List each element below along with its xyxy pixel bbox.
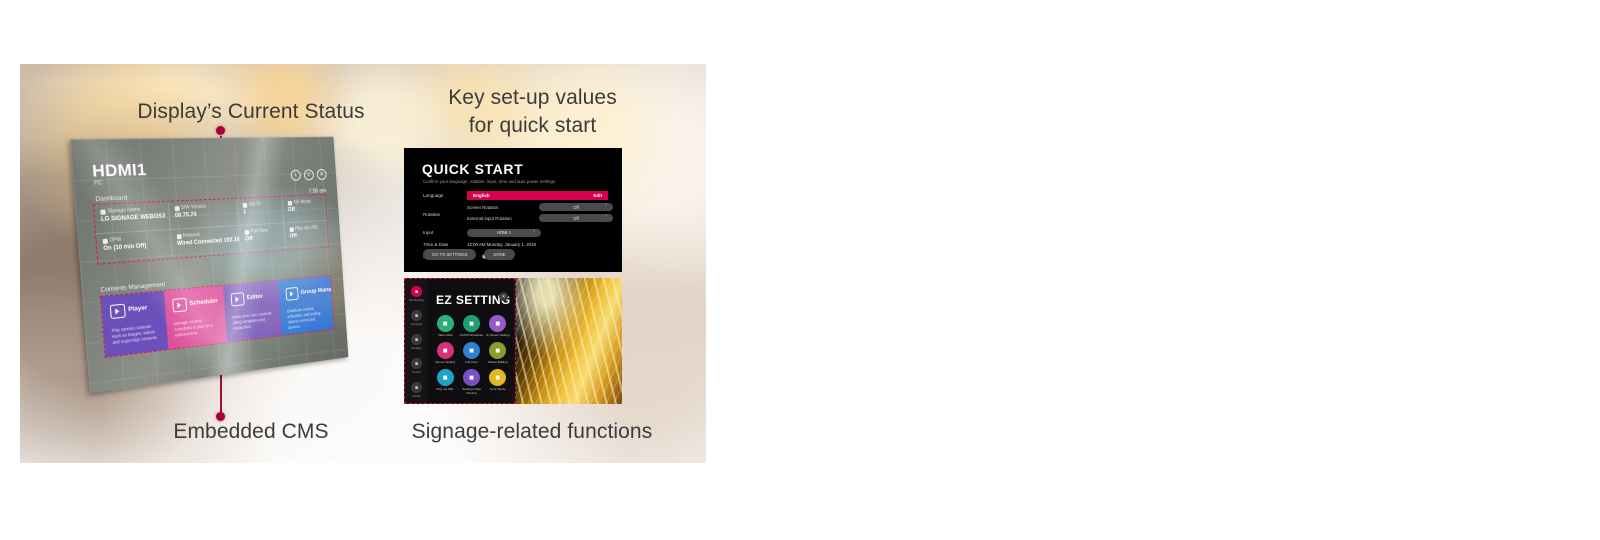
- quick-start-title: QUICK START: [422, 161, 523, 177]
- sync-icon: ■: [489, 369, 506, 386]
- dashboard-cell-key: Fail Over: [245, 227, 280, 235]
- tile-icon: [287, 200, 291, 205]
- dashboard-cell-value: Off: [245, 235, 280, 243]
- dashboard-cell-value: Off: [290, 232, 324, 240]
- sound-icon: ■: [411, 358, 422, 369]
- rotation-label: Rotation: [423, 212, 467, 217]
- ez-rail-item-label: Display: [411, 346, 422, 350]
- dashboard-cell: NetworkWired Connected 192.168.0.1: [170, 226, 241, 258]
- row-screen-rotation: Screen Rotation Off: [467, 203, 613, 211]
- ez-item-on-off-scheduler[interactable]: ■On/Off Scheduler: [458, 315, 484, 338]
- dashboard-cell: Fail OverOff: [239, 223, 286, 253]
- cms-tile-name: Group Manager 2.0: [300, 285, 333, 296]
- player-icon: [110, 304, 126, 319]
- dashboard-cell: Signage NameLG SIGNAGE WEBOS3: [94, 202, 170, 235]
- ez-rail-item-general[interactable]: ■General: [411, 310, 422, 326]
- input-source-label: HDMI1: [91, 160, 147, 181]
- ez-item-fail-over[interactable]: ■Fail Over: [458, 342, 484, 365]
- admin-icon: ■: [411, 382, 422, 393]
- dashboard-cell-key-text: S/W Version: [181, 204, 207, 211]
- quick-start-row-rotation: Rotation Screen Rotation Off External In…: [423, 203, 608, 225]
- dashboard-cell-key-text: Network: [183, 232, 200, 239]
- dashboard-cell-value: 1: [243, 208, 278, 215]
- ez-rail-item-sound[interactable]: ■Sound: [411, 358, 422, 374]
- url-play-icon: ■: [437, 369, 454, 386]
- cms-tile-description: Manage content schedules to play on a se…: [174, 316, 220, 339]
- power-save-icon: [103, 238, 108, 243]
- dashboard-cell-key: Set ID: [243, 201, 278, 208]
- dashboard-cell-value: Wired Connected 192.168.0.1: [177, 237, 235, 247]
- server-icon: ■: [489, 315, 506, 332]
- tunnel-background-image: [513, 278, 622, 404]
- ez-item-label: Sync Mode: [485, 388, 511, 392]
- dashboard-cell-value: 08.75.74: [175, 210, 233, 219]
- dashboard-cell-key-text: DPM: [110, 237, 122, 244]
- general-icon: ■: [411, 310, 422, 321]
- ez-item-label: Fail Over: [458, 361, 484, 365]
- cms-tile-name: Scheduler: [189, 297, 218, 307]
- clone-icon: ■: [463, 369, 480, 386]
- ez-rail-item-ez-setting[interactable]: ■EZ Setting: [409, 286, 423, 302]
- connector-dot-top: [216, 126, 225, 135]
- chip-icon: [174, 206, 179, 211]
- failover-icon: ■: [463, 342, 480, 359]
- close-icon[interactable]: ✕: [499, 292, 508, 301]
- signage-screen: HDMI1 PC Dashboard 7:58 am L ⏻ ⚙ Signage…: [70, 137, 348, 394]
- lan-icon[interactable]: L: [290, 170, 301, 181]
- editor-icon: [231, 292, 245, 306]
- ez-setting-sidebar: ■EZ Setting■General■Display■Sound■Admin: [405, 279, 428, 403]
- time-date-label: Time & Date: [423, 242, 467, 247]
- ez-setting-menu-overlay: ■EZ Setting■General■Display■Sound■Admin …: [404, 278, 516, 404]
- dashboard-cell-value: On (10 min Off): [103, 242, 166, 252]
- ez-item-video-wall[interactable]: ■Video Wall: [432, 315, 458, 338]
- row-external-input-rotation: External Input Rotation Off: [467, 214, 613, 222]
- settings-server-icon: ■: [437, 342, 454, 359]
- quick-start-row-time-date: Time & Date 12:00 AM Monday, January 1, …: [423, 240, 608, 249]
- cms-tile-editor[interactable]: EditorMake your own contents using templ…: [223, 281, 282, 342]
- callout-embedded-cms: Embedded CMS: [115, 418, 387, 446]
- cms-tile-scheduler[interactable]: SchedulerManage content schedules to pla…: [164, 286, 227, 350]
- dashboard-cell: Tile ModeOff: [282, 195, 326, 223]
- dashboard-cell-key-text: Fail Over: [251, 228, 269, 235]
- id-icon: [243, 203, 248, 208]
- cms-tile-name: Editor: [247, 293, 264, 301]
- wifi-icon: [176, 234, 181, 239]
- ez-item-play-via-url[interactable]: ■Play via URL: [432, 369, 458, 396]
- ez-item-settings-data-cloning[interactable]: ■Settings Data Cloning: [458, 369, 484, 396]
- quick-start-panel: QUICK START Confirm your language, rotat…: [404, 148, 622, 272]
- callout-quick-start: Key set-up values for quick start: [400, 84, 665, 140]
- ez-rail-item-display[interactable]: ■Display: [411, 334, 422, 350]
- ez-rail-item-label: Admin: [411, 394, 422, 398]
- ez-item-label: Video Wall: [432, 334, 458, 338]
- dashboard-cell: S/W Version08.75.74: [168, 199, 239, 230]
- dashboard-cell-key-text: Signage Name: [107, 207, 140, 215]
- dashboard-cell-key: Play via URL: [289, 225, 323, 233]
- product-slide-image: Display’s Current Status Key set-up valu…: [20, 64, 706, 463]
- done-button[interactable]: DONE: [484, 249, 514, 260]
- url-icon: [289, 227, 293, 232]
- scheduler-clock-icon: ■: [463, 315, 480, 332]
- cms-tile-description: Play various contents such as images, vi…: [112, 323, 161, 346]
- ez-item-label: Status Mailing: [485, 361, 511, 365]
- dashboard-panel: Signage NameLG SIGNAGE WEBOS3S/W Version…: [93, 194, 329, 265]
- language-label: Language: [423, 193, 467, 198]
- scheduler-icon: [172, 298, 187, 313]
- quick-start-subtitle: Confirm your language, rotation, input, …: [423, 179, 556, 184]
- connector-dot-bottom: [216, 412, 225, 421]
- group-manager-icon: [285, 287, 298, 301]
- power-icon[interactable]: ⏻: [304, 169, 314, 180]
- display-status-icon-group: L ⏻ ⚙: [290, 169, 326, 181]
- time-date-value: 12:00 AM Monday, January 1, 2018: [467, 242, 536, 247]
- ez-item-label: Server Setting: [432, 361, 458, 365]
- mail-icon: ■: [489, 342, 506, 359]
- signage-display-mockup: HDMI1 PC Dashboard 7:58 am L ⏻ ⚙ Signage…: [80, 142, 370, 392]
- dashboard-cell-value: Off: [288, 206, 322, 213]
- callout-display-status: Display’s Current Status: [115, 98, 387, 126]
- ez-rail-item-label: Sound: [411, 370, 422, 374]
- ez-rail-item-label: General: [411, 322, 422, 326]
- dashboard-cell: Play via URLOff: [284, 221, 328, 250]
- monitor-icon: [100, 209, 105, 214]
- ez-item-sync-mode[interactable]: ■Sync Mode: [485, 369, 511, 396]
- cms-tile-group-manager-2-0[interactable]: Group Manager 2.0Distribute content sche…: [278, 276, 334, 335]
- ez-icon: ■: [411, 286, 422, 297]
- screen-rotation-select[interactable]: Off: [539, 203, 613, 211]
- dashboard-grid: Signage NameLG SIGNAGE WEBOS3S/W Version…: [94, 195, 328, 264]
- cms-tile-name: Player: [128, 304, 148, 313]
- dashboard-cell: Set ID1: [237, 197, 284, 226]
- ez-rail-item-label: EZ Setting: [409, 298, 423, 302]
- callout-quick-start-line2: for quick start: [400, 112, 665, 140]
- dashboard-cell-key-text: Play via URL: [295, 225, 319, 232]
- quick-start-row-language: Language English Edit: [423, 191, 608, 200]
- callout-signage-functions: Signage-related functions: [378, 418, 686, 446]
- cms-tile-description: Make your own contents using templates a…: [232, 310, 275, 332]
- callout-quick-start-line1: Key set-up values: [400, 84, 665, 112]
- input-label: Input: [423, 230, 467, 235]
- dashboard-cell-key-text: Tile Mode: [293, 199, 311, 205]
- dashboard-cell-value: LG SIGNAGE WEBOS3: [101, 214, 164, 223]
- ez-setting-panel: ■EZ Setting■General■Display■Sound■Admin …: [404, 278, 622, 404]
- language-value-pill[interactable]: English Edit: [467, 191, 608, 200]
- rotation-options: Screen Rotation Off External Input Rotat…: [467, 203, 613, 225]
- ez-item-label: On/Off Scheduler: [458, 334, 484, 338]
- ez-item-si-server-setting[interactable]: ■SI Server Setting: [485, 315, 511, 338]
- ez-item-label: Settings Data Cloning: [458, 388, 484, 396]
- ez-item-label: Play via URL: [432, 388, 458, 392]
- cms-tile-description: Distribute content schedules and setting…: [287, 305, 328, 331]
- ez-rail-item-admin[interactable]: ■Admin: [411, 382, 422, 398]
- cms-tile-player[interactable]: PlayerPlay various contents such as imag…: [101, 291, 168, 357]
- dashboard-cell-key-text: Set ID: [249, 201, 261, 207]
- ez-item-label: SI Server Setting: [485, 334, 511, 338]
- go-to-settings-button[interactable]: GO TO SETTINGS: [423, 249, 476, 260]
- ez-setting-icon-grid: ■Video Wall■On/Off Scheduler■SI Server S…: [432, 315, 511, 395]
- input-select[interactable]: HDMI 1: [467, 229, 541, 237]
- quick-start-row-input: Input HDMI 1: [423, 228, 608, 237]
- failover-icon: [245, 230, 250, 235]
- input-source-sublabel: PC: [94, 180, 103, 186]
- language-value: English: [473, 193, 490, 198]
- ez-item-status-mailing[interactable]: ■Status Mailing: [485, 342, 511, 365]
- dashboard-cell: DPMOn (10 min Off): [96, 230, 172, 264]
- screen-rotation-label: Screen Rotation: [467, 205, 539, 210]
- video-wall-icon: ■: [437, 315, 454, 332]
- display-icon: ■: [411, 334, 422, 345]
- dashboard-cell-key: Tile Mode: [287, 199, 321, 206]
- language-action[interactable]: Edit: [593, 193, 602, 198]
- ez-item-server-setting[interactable]: ■Server Setting: [432, 342, 458, 365]
- dashboard-section-label: Dashboard: [95, 195, 128, 203]
- external-input-rotation-label: External Input Rotation: [467, 216, 539, 221]
- settings-icon[interactable]: ⚙: [317, 169, 327, 180]
- external-input-rotation-select[interactable]: Off: [539, 214, 613, 222]
- quick-start-button-row: GO TO SETTINGS DONE: [423, 249, 515, 260]
